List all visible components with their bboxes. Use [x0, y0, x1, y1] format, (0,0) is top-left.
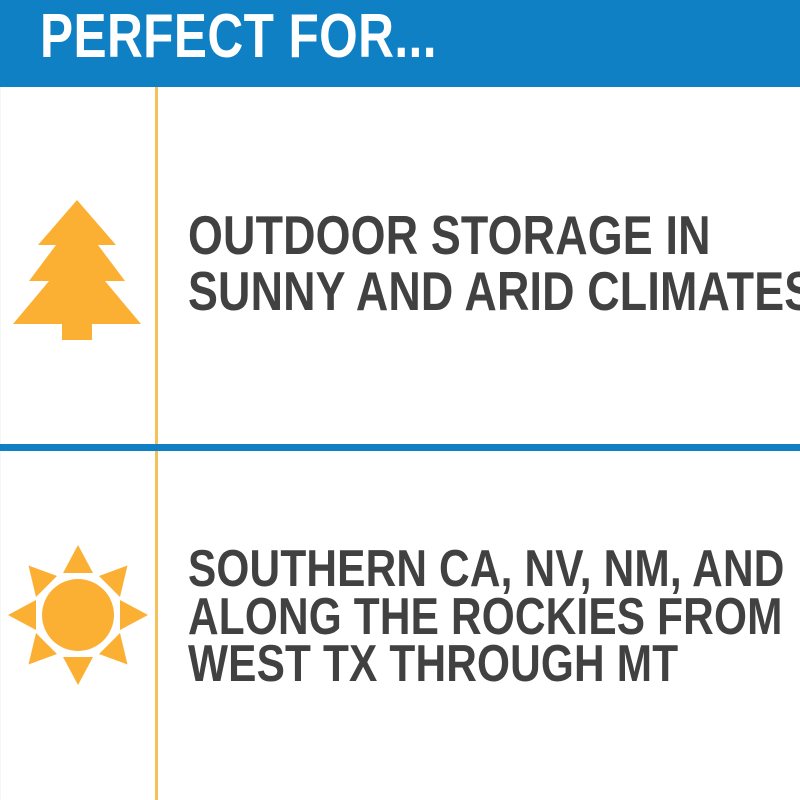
row-2-text-line-1: SOUTHERN CA, NV, NM, AND — [188, 546, 784, 594]
row-regions: SOUTHERN CA, NV, NM, AND ALONG THE ROCKI… — [0, 451, 800, 800]
row-1-text-block: OUTDOOR STORAGE IN SUNNY AND ARID CLIMAT… — [188, 207, 800, 319]
header-banner: PERFECT FOR... — [0, 0, 800, 87]
horizontal-row-divider — [0, 444, 800, 451]
row-2-text-line-2: ALONG THE ROCKIES FROM — [188, 594, 784, 642]
row-outdoor-storage: OUTDOOR STORAGE IN SUNNY AND ARID CLIMAT… — [0, 87, 800, 444]
sun-icon — [8, 545, 148, 685]
row-1-text-line-2: SUNNY AND ARID CLIMATES — [188, 263, 800, 319]
row-2-text-line-3: WEST TX THROUGH MT — [188, 641, 784, 689]
perfect-for-infographic: PERFECT FOR... OUTDOOR STORAGE IN SUNNY … — [0, 0, 800, 800]
row-1-icon-cell — [0, 87, 155, 444]
row-1-text-line-1: OUTDOOR STORAGE IN — [188, 207, 800, 263]
row-2-icon-cell — [0, 451, 155, 800]
pine-tree-icon — [13, 200, 141, 340]
page-title: PERFECT FOR... — [40, 6, 437, 68]
row-2-text-block: SOUTHERN CA, NV, NM, AND ALONG THE ROCKI… — [188, 546, 784, 689]
